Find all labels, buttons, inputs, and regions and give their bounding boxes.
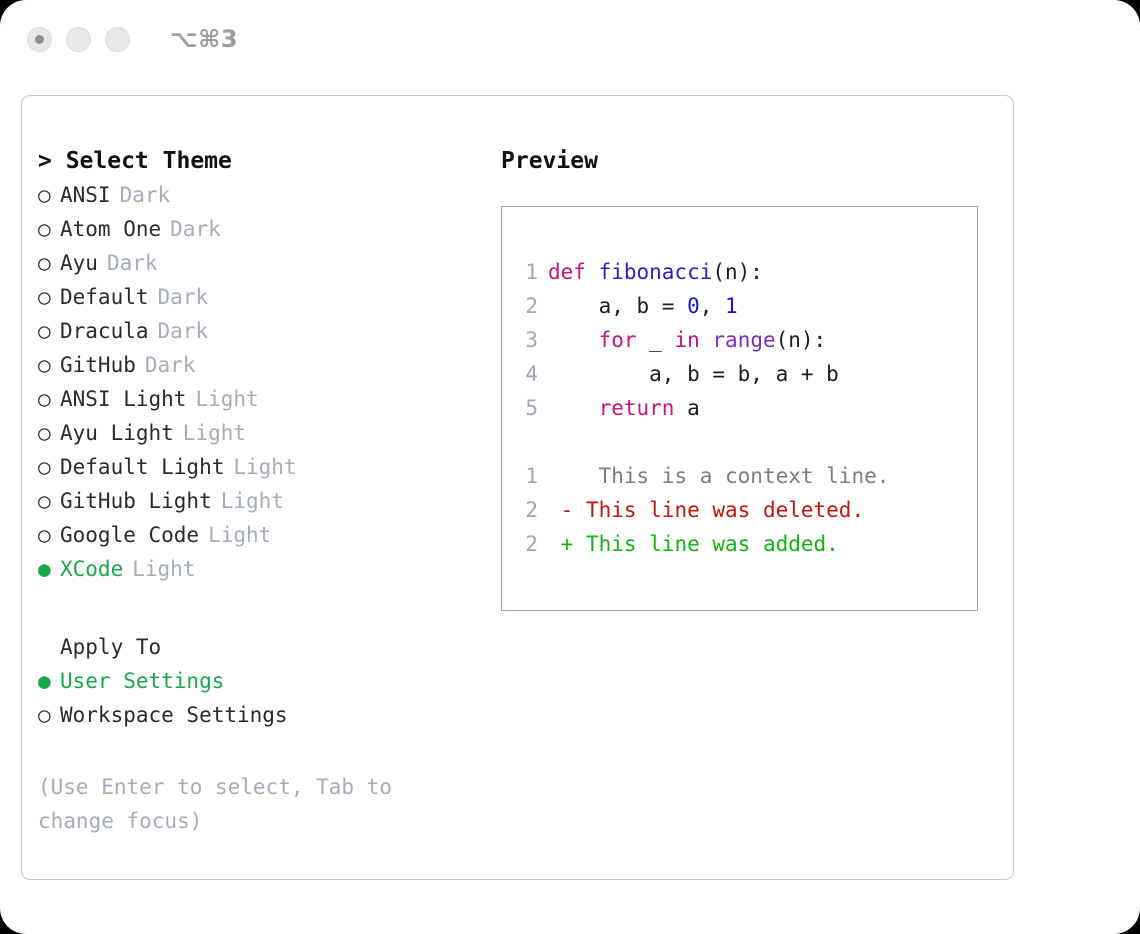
line-number: 2 — [524, 289, 538, 323]
code-token-plain: (n): — [712, 260, 763, 284]
theme-option-label: Default Light — [60, 450, 224, 484]
diff-line-added: 2 + This line was added. — [524, 527, 977, 561]
code-token-plain: _ — [637, 328, 675, 352]
code-token-plain — [548, 396, 599, 420]
preview-header: Preview — [501, 144, 1001, 178]
apply-option-label: User Settings — [60, 664, 224, 698]
window-dot-minimize-icon[interactable] — [66, 27, 91, 52]
apply-to-section: Apply To ●User Settings○Workspace Settin… — [38, 630, 478, 732]
code-token-kw: return — [599, 396, 675, 420]
apply-to-header: Apply To — [38, 630, 478, 664]
window-dot-maximize-icon[interactable] — [105, 27, 130, 52]
radio-unselected-icon: ○ — [38, 450, 60, 484]
code-token-num: 1 — [725, 294, 738, 318]
panel-columns: > Select Theme ○ANSIDark○Atom OneDark○Ay… — [22, 96, 1013, 879]
theme-variant-tag: Dark — [120, 178, 171, 212]
radio-unselected-icon: ○ — [38, 518, 60, 552]
theme-option-label: Default — [60, 280, 149, 314]
theme-selector-column: > Select Theme ○ANSIDark○Atom OneDark○Ay… — [38, 144, 478, 838]
theme-option-ayu-light[interactable]: ○Ayu LightLight — [38, 416, 478, 450]
window-controls — [27, 27, 130, 52]
radio-unselected-icon: ○ — [38, 698, 60, 732]
apply-option-workspace-settings[interactable]: ○Workspace Settings — [38, 698, 478, 732]
apply-option-user-settings[interactable]: ●User Settings — [38, 664, 478, 698]
code-token-fn: fibonacci — [599, 260, 713, 284]
code-line: 3 for _ in range(n): — [524, 323, 977, 357]
main-panel: > Select Theme ○ANSIDark○Atom OneDark○Ay… — [21, 95, 1014, 880]
code-token-kw: in — [674, 328, 699, 352]
theme-variant-tag: Dark — [158, 280, 209, 314]
radio-unselected-icon: ○ — [38, 382, 60, 416]
diff-marker: + — [548, 532, 573, 556]
apply-to-option-list[interactable]: ●User Settings○Workspace Settings — [38, 664, 478, 732]
code-token-plain: , — [700, 294, 725, 318]
code-token-plain — [700, 328, 713, 352]
radio-unselected-icon: ○ — [38, 484, 60, 518]
keyboard-shortcut-label: ⌥⌘3 — [170, 25, 238, 53]
theme-variant-tag: Light — [195, 382, 258, 416]
line-number: 2 — [524, 493, 538, 527]
theme-variant-tag: Light — [233, 450, 296, 484]
radio-unselected-icon: ○ — [38, 280, 60, 314]
select-theme-header: > Select Theme — [38, 144, 478, 178]
radio-unselected-icon: ○ — [38, 416, 60, 450]
code-token-num: 0 — [687, 294, 700, 318]
line-number: 3 — [524, 323, 538, 357]
line-number: 1 — [524, 459, 538, 493]
theme-option-label: GitHub Light — [60, 484, 212, 518]
preview-column: Preview 1def fibonacci(n):2 a, b = 0, 13… — [501, 144, 1001, 611]
theme-option-ayu[interactable]: ○AyuDark — [38, 246, 478, 280]
radio-unselected-icon: ○ — [38, 246, 60, 280]
code-token-plain: (n): — [776, 328, 827, 352]
diff-text: This line was added. — [573, 532, 839, 556]
preview-box: 1def fibonacci(n):2 a, b = 0, 13 for _ i… — [501, 206, 978, 611]
theme-option-list[interactable]: ○ANSIDark○Atom OneDark○AyuDark○DefaultDa… — [38, 178, 478, 586]
theme-option-atom-one[interactable]: ○Atom OneDark — [38, 212, 478, 246]
title-bar: ⌥⌘3 — [0, 0, 1140, 78]
code-line: 1def fibonacci(n): — [524, 255, 977, 289]
theme-option-label: Atom One — [60, 212, 161, 246]
theme-variant-tag: Dark — [107, 246, 158, 280]
theme-option-xcode[interactable]: ●XCodeLight — [38, 552, 478, 586]
theme-option-ansi[interactable]: ○ANSIDark — [38, 178, 478, 212]
theme-option-label: GitHub — [60, 348, 136, 382]
line-number: 5 — [524, 391, 538, 425]
preview-spacer — [524, 425, 977, 459]
diff-text: This is a context line. — [573, 464, 889, 488]
theme-option-label: ANSI Light — [60, 382, 186, 416]
line-number: 2 — [524, 527, 538, 561]
radio-unselected-icon: ○ — [38, 314, 60, 348]
theme-option-label: Google Code — [60, 518, 199, 552]
code-token-plain: a, b = b, a + b — [548, 362, 839, 386]
code-token-call: range — [712, 328, 775, 352]
code-token-plain — [548, 328, 599, 352]
code-line: 4 a, b = b, a + b — [524, 357, 977, 391]
line-number: 4 — [524, 357, 538, 391]
code-token-kw: for — [599, 328, 637, 352]
diff-text: This line was deleted. — [573, 498, 864, 522]
radio-selected-icon: ● — [38, 664, 60, 698]
window-dot-close-icon[interactable] — [27, 27, 52, 52]
theme-option-ansi-light[interactable]: ○ANSI LightLight — [38, 382, 478, 416]
apply-option-label: Workspace Settings — [60, 698, 288, 732]
code-line: 2 a, b = 0, 1 — [524, 289, 977, 323]
theme-option-google-code[interactable]: ○Google CodeLight — [38, 518, 478, 552]
radio-unselected-icon: ○ — [38, 348, 60, 382]
theme-option-github-light[interactable]: ○GitHub LightLight — [38, 484, 478, 518]
theme-variant-tag: Dark — [158, 314, 209, 348]
code-token-plain: a, b = — [548, 294, 687, 318]
keyboard-hint-text: (Use Enter to select, Tab to change focu… — [38, 770, 438, 838]
theme-variant-tag: Dark — [170, 212, 221, 246]
line-number: 1 — [524, 255, 538, 289]
theme-option-default-light[interactable]: ○Default LightLight — [38, 450, 478, 484]
app-window: ⌥⌘3 > Select Theme ○ANSIDark○Atom OneDar… — [0, 0, 1140, 934]
theme-variant-tag: Dark — [145, 348, 196, 382]
diff-line-context: 1 This is a context line. — [524, 459, 977, 493]
radio-unselected-icon: ○ — [38, 178, 60, 212]
diff-marker: - — [548, 498, 573, 522]
diff-sample: 1 This is a context line.2 - This line w… — [524, 459, 977, 561]
theme-variant-tag: Light — [221, 484, 284, 518]
code-line: 5 return a — [524, 391, 977, 425]
theme-option-label: Ayu — [60, 246, 98, 280]
theme-option-label: XCode — [60, 552, 123, 586]
radio-unselected-icon: ○ — [38, 212, 60, 246]
window-dot-inner — [35, 35, 44, 44]
theme-option-label: ANSI — [60, 178, 111, 212]
diff-line-deleted: 2 - This line was deleted. — [524, 493, 977, 527]
theme-option-github[interactable]: ○GitHubDark — [38, 348, 478, 382]
theme-variant-tag: Light — [183, 416, 246, 450]
diff-marker — [548, 464, 573, 488]
theme-option-label: Ayu Light — [60, 416, 174, 450]
theme-option-dracula[interactable]: ○DraculaDark — [38, 314, 478, 348]
code-token-kw: def — [548, 260, 599, 284]
radio-selected-icon: ● — [38, 552, 60, 586]
code-token-plain: a — [674, 396, 699, 420]
theme-variant-tag: Light — [208, 518, 271, 552]
theme-option-default[interactable]: ○DefaultDark — [38, 280, 478, 314]
theme-option-label: Dracula — [60, 314, 149, 348]
theme-variant-tag: Light — [132, 552, 195, 586]
code-sample: 1def fibonacci(n):2 a, b = 0, 13 for _ i… — [524, 255, 977, 425]
